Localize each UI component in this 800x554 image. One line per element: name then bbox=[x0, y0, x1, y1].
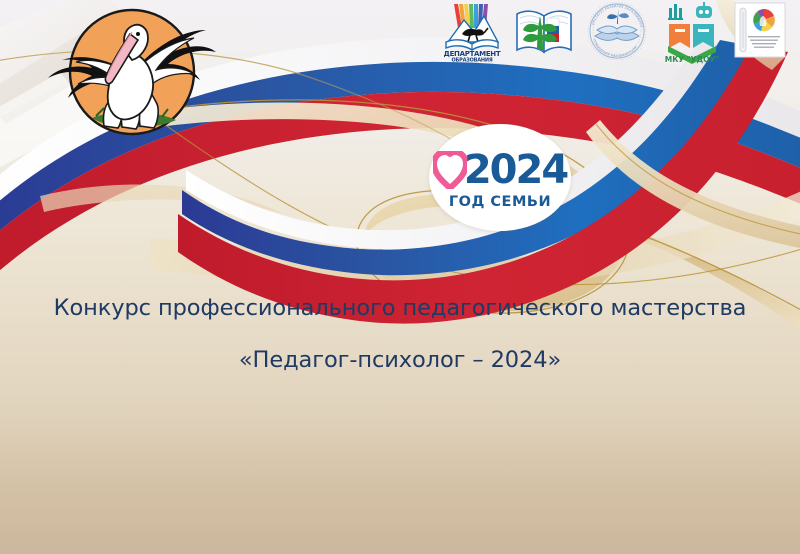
logo-department-of-education: ДЕПАРТАМЕНТ ОБРАЗОВАНИЯ bbox=[440, 2, 504, 62]
partner-logos-row: ДЕПАРТАМЕНТ ОБРАЗОВАНИЯ bbox=[440, 2, 786, 64]
robot-icon bbox=[696, 2, 712, 18]
building-icon bbox=[668, 4, 683, 20]
pelican-emblem bbox=[44, 6, 220, 148]
emblem-subtitle: ГОД СЕМЬИ bbox=[449, 194, 551, 210]
logo-mku-udou-label: МКУ "УДОУ" bbox=[665, 55, 720, 64]
logo-education-trade-union bbox=[513, 2, 575, 60]
presentation-slide: ДЕПАРТАМЕНТ ОБРАЗОВАНИЯ bbox=[0, 0, 800, 554]
slide-title-block: Конкурс профессионального педагогическог… bbox=[0, 296, 800, 374]
logo-round-institute-seal: ИНСТИТУТ РАЗВИТИЯ ОБРАЗОВАНИЯ ПОВЫШЕНИЯ … bbox=[584, 2, 650, 60]
logo-mku-udou: МКУ "УДОУ" bbox=[659, 2, 725, 64]
svg-text:ПОВЫШЕНИЯ КВАЛИФИКАЦИИ: ПОВЫШЕНИЯ КВАЛИФИКАЦИИ bbox=[592, 39, 638, 58]
svg-text:ИНСТИТУТ РАЗВИТИЯ ОБРАЗОВАНИЯ: ИНСТИТУТ РАЗВИТИЯ ОБРАЗОВАНИЯ bbox=[591, 4, 644, 28]
logo-department-line2: ОБРАЗОВАНИЯ bbox=[451, 58, 492, 63]
emblem-year-text: 2024 bbox=[464, 150, 567, 190]
title-line-2: «Педагог-психолог – 2024» bbox=[0, 348, 800, 374]
heart-icon bbox=[433, 151, 467, 189]
title-line-1: Конкурс профессионального педагогическог… bbox=[0, 296, 800, 322]
year-of-family-emblem: 2024 ГОД СЕМЬИ bbox=[429, 124, 571, 231]
logo-white-card bbox=[734, 2, 786, 60]
